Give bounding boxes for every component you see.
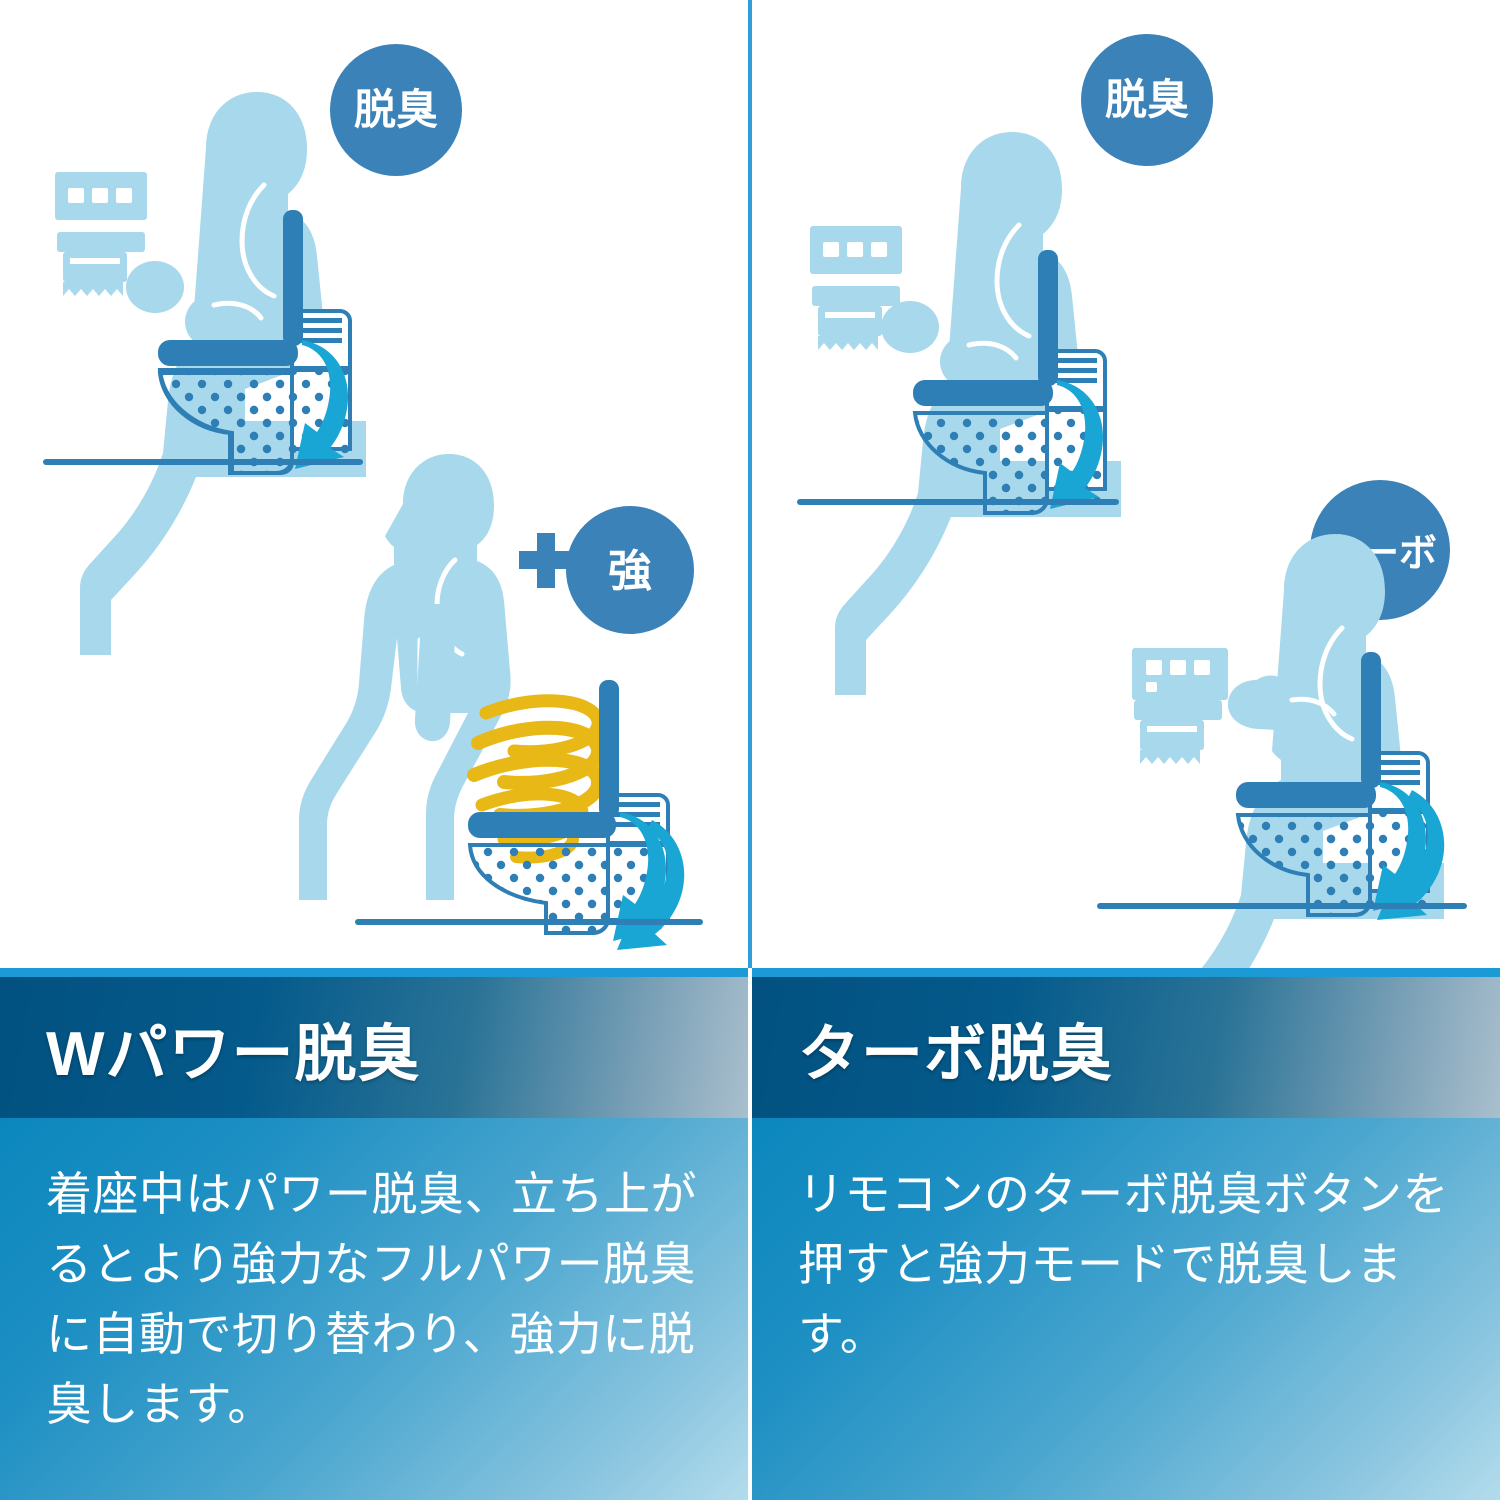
accent-top-line [752, 968, 1500, 977]
text-panel-w-power: Wパワー脱臭 着座中はパワー脱臭、立ち上がるとより強力なフルパワー脱臭に自動で切… [0, 968, 748, 1500]
toilet-paper-icon-2 [1134, 700, 1222, 764]
accent-top-line [0, 968, 748, 977]
infographic-page: 脱臭 [0, 0, 1500, 1500]
panel-body-w-power: 着座中はパワー脱臭、立ち上がるとより強力なフルパワー脱臭に自動で切り替わり、強力… [46, 1160, 714, 1440]
scene-seated-deodorize [46, 92, 366, 655]
body-band-turbo: リモコンのターボ脱臭ボタンを押すと強力モードで脱臭します。 [752, 1118, 1500, 1500]
panel-title-w-power: Wパワー脱臭 [46, 1003, 421, 1093]
panel-body-turbo: リモコンのターボ脱臭ボタンを押すと強力モードで脱臭します。 [798, 1160, 1466, 1370]
header-band-turbo: ターボ脱臭 [752, 977, 1500, 1118]
illustration-area: 脱臭 [0, 0, 1500, 968]
remote-control-icon [55, 172, 147, 220]
text-area: Wパワー脱臭 着座中はパワー脱臭、立ち上がるとより強力なフルパワー脱臭に自動で切… [0, 968, 1500, 1500]
plus-icon [519, 533, 574, 588]
badge-strong-label: 強 [608, 547, 652, 596]
header-band-w-power: Wパワー脱臭 [0, 977, 748, 1118]
badge-deodorize-label: 脱臭 [1105, 76, 1189, 123]
scene-seated-deodorize-right [800, 132, 1121, 695]
panel-title-turbo: ターボ脱臭 [798, 1003, 1113, 1093]
badge-deodorize: 脱臭 [330, 44, 462, 176]
remote-control-icon-2 [1132, 648, 1228, 700]
turbo-illustration: 脱臭 ターボ [752, 0, 1500, 968]
scene-standing-full-power: 強 [299, 454, 700, 950]
illustration-panel-w-power: 脱臭 [0, 0, 748, 968]
badge-deodorize: 脱臭 [1081, 34, 1213, 166]
text-panel-turbo: ターボ脱臭 リモコンのターボ脱臭ボタンを押すと強力モードで脱臭します。 [752, 968, 1500, 1500]
badge-strong: 強 [566, 506, 694, 634]
illustration-panel-turbo: 脱臭 ターボ [752, 0, 1500, 968]
remote-control-icon [810, 226, 902, 274]
badge-deodorize-label: 脱臭 [354, 86, 438, 133]
w-power-illustration: 脱臭 [0, 0, 748, 968]
body-band-w-power: 着座中はパワー脱臭、立ち上がるとより強力なフルパワー脱臭に自動で切り替わり、強力… [0, 1118, 748, 1500]
